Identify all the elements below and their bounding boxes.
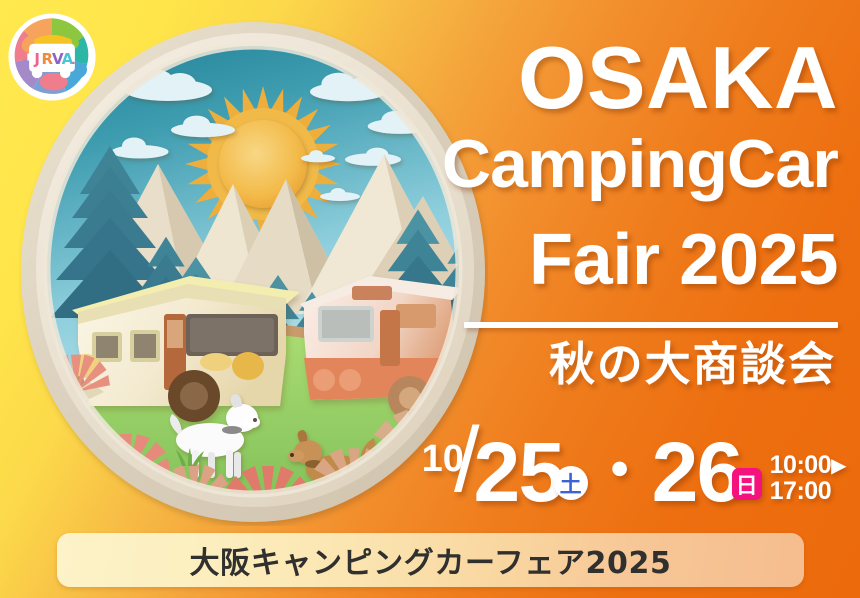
hours-close-time: 17:00 <box>770 477 831 505</box>
headline-line-fair-2025: Fair 2025 <box>529 228 838 293</box>
date-day-26: 26 <box>652 430 742 514</box>
event-hours: 10:00▶17:00 <box>770 453 846 504</box>
event-date-row: 10 / 25 土 ・ 26 日 10:00▶17:00 <box>422 412 846 508</box>
date-middot: ・ <box>590 442 650 502</box>
hours-open-time: 10:00 <box>770 451 831 479</box>
hours-open-line: 10:00▶ <box>770 451 846 479</box>
headline-column: OSAKA CampingCar Fair 2025 秋の大商談会 10 / 2… <box>440 0 860 598</box>
event-name-banner: 大阪キャンピングカーフェア2025 <box>57 533 804 587</box>
headline-subtitle: 秋の大商談会 <box>549 340 836 388</box>
svg-text:J: J <box>33 50 40 68</box>
headline-line-osaka: OSAKA <box>518 38 838 117</box>
svg-text:.: . <box>71 53 75 67</box>
headline-divider-rule <box>464 322 838 328</box>
event-name-banner-label: 大阪キャンピングカーフェア2025 <box>190 538 672 582</box>
jrva-logo[interactable]: J R V A . <box>8 13 96 101</box>
headline-line-campingcar: CampingCar <box>442 134 838 195</box>
date-day-25: 25 <box>474 430 564 514</box>
hours-arrow-icon: ▶ <box>831 455 846 477</box>
poster-root: J R V A . OSAKA CampingCar Fair 2025 秋の大… <box>0 0 860 598</box>
day-badge-sunday: 日 <box>732 468 762 500</box>
day-badge-saturday: 土 <box>554 466 588 500</box>
